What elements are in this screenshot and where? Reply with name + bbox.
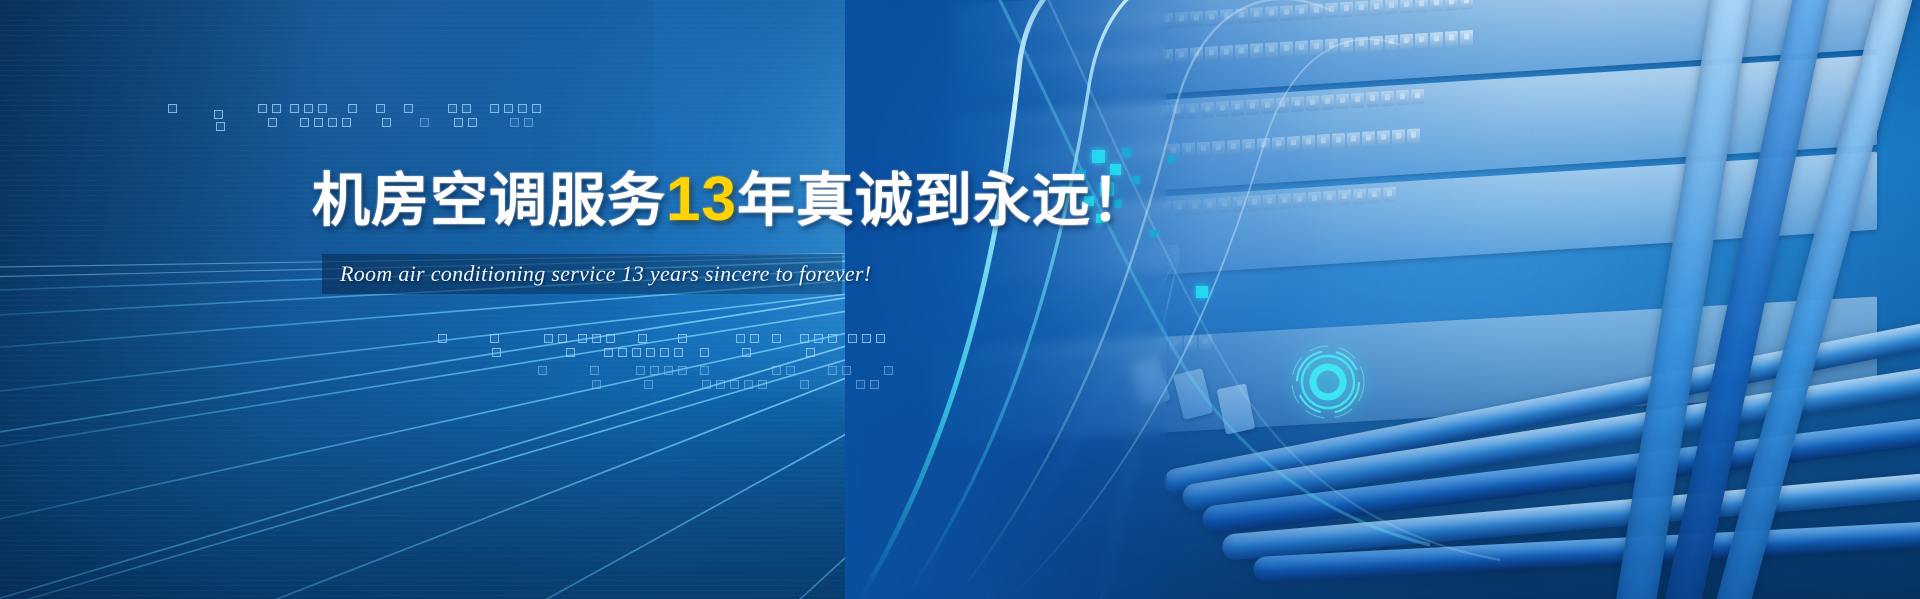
hero-banner: 机房空调服务13年真诚到永远！ Room air conditioning se… (0, 0, 1920, 599)
dot-pattern-bottom (0, 0, 1920, 599)
headline-part2: 年真诚到永远！ (737, 168, 1150, 233)
headline-part1: 机房空调服务 (312, 168, 666, 233)
headline-highlight-number: 13 (666, 165, 737, 234)
headline: 机房空调服务13年真诚到永远！ (312, 168, 1150, 233)
subtitle: Room air conditioning service 13 years s… (340, 256, 838, 292)
